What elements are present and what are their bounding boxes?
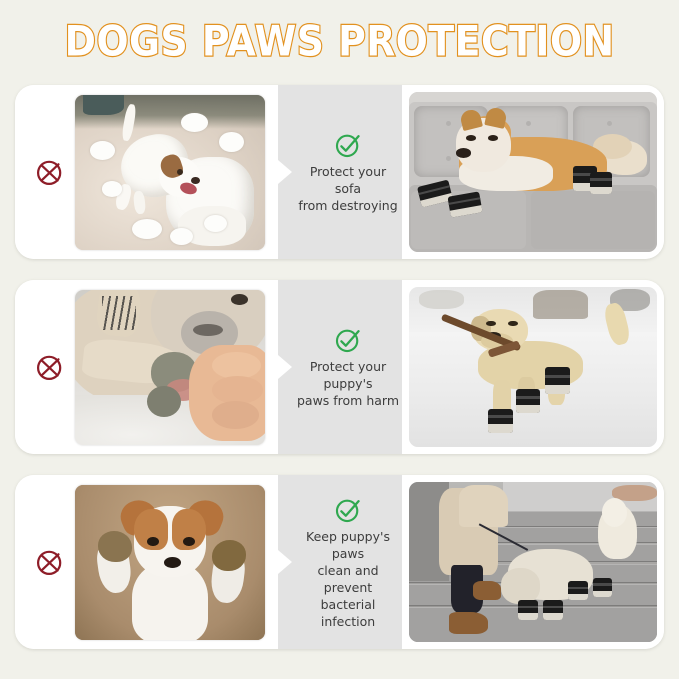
problem-section: [15, 475, 278, 649]
cross-circle-icon: [33, 155, 67, 189]
benefit-caption-panel: Protect your sofa from destroying: [278, 85, 402, 259]
problem-photo: [75, 95, 265, 250]
solution-section: [402, 280, 664, 454]
page-header: DOGS PAWS PROTECTION: [0, 0, 679, 82]
solution-section: [402, 475, 664, 649]
problem-section: [15, 280, 278, 454]
dog-boot: [543, 600, 563, 619]
page-title: DOGS PAWS PROTECTION: [64, 17, 614, 65]
check-circle-icon: [333, 495, 363, 525]
dog-boot: [568, 581, 588, 600]
benefit-caption-text: Protect your sofa from destroying: [286, 163, 410, 214]
solution-photo: [409, 482, 657, 642]
benefit-caption-text: Keep puppy's paws clean and prevent bact…: [286, 528, 410, 630]
check-circle-icon: [333, 130, 363, 160]
problem-photo: [75, 290, 265, 445]
problem-section: [15, 85, 278, 259]
dog-boot: [516, 389, 541, 413]
problem-photo: [75, 485, 265, 640]
feature-row: Keep puppy's paws clean and prevent bact…: [15, 475, 664, 649]
dog-boot: [518, 600, 538, 619]
dog-boot: [488, 409, 513, 433]
cross-circle-icon: [33, 545, 67, 579]
benefit-caption-panel: Keep puppy's paws clean and prevent bact…: [278, 475, 402, 649]
dog-boot: [590, 172, 612, 194]
check-circle-icon: [333, 325, 363, 355]
solution-section: [402, 85, 664, 259]
dog-boot: [593, 578, 613, 597]
cross-circle-icon: [33, 350, 67, 384]
solution-photo: [409, 92, 657, 252]
feature-row: Protect your puppy's paws from harm: [15, 280, 664, 454]
dog-boot: [545, 367, 570, 394]
benefit-caption-text: Protect your puppy's paws from harm: [286, 358, 410, 409]
solution-photo: [409, 287, 657, 447]
feature-row: Protect your sofa from destroying: [15, 85, 664, 259]
benefit-caption-panel: Protect your puppy's paws from harm: [278, 280, 402, 454]
